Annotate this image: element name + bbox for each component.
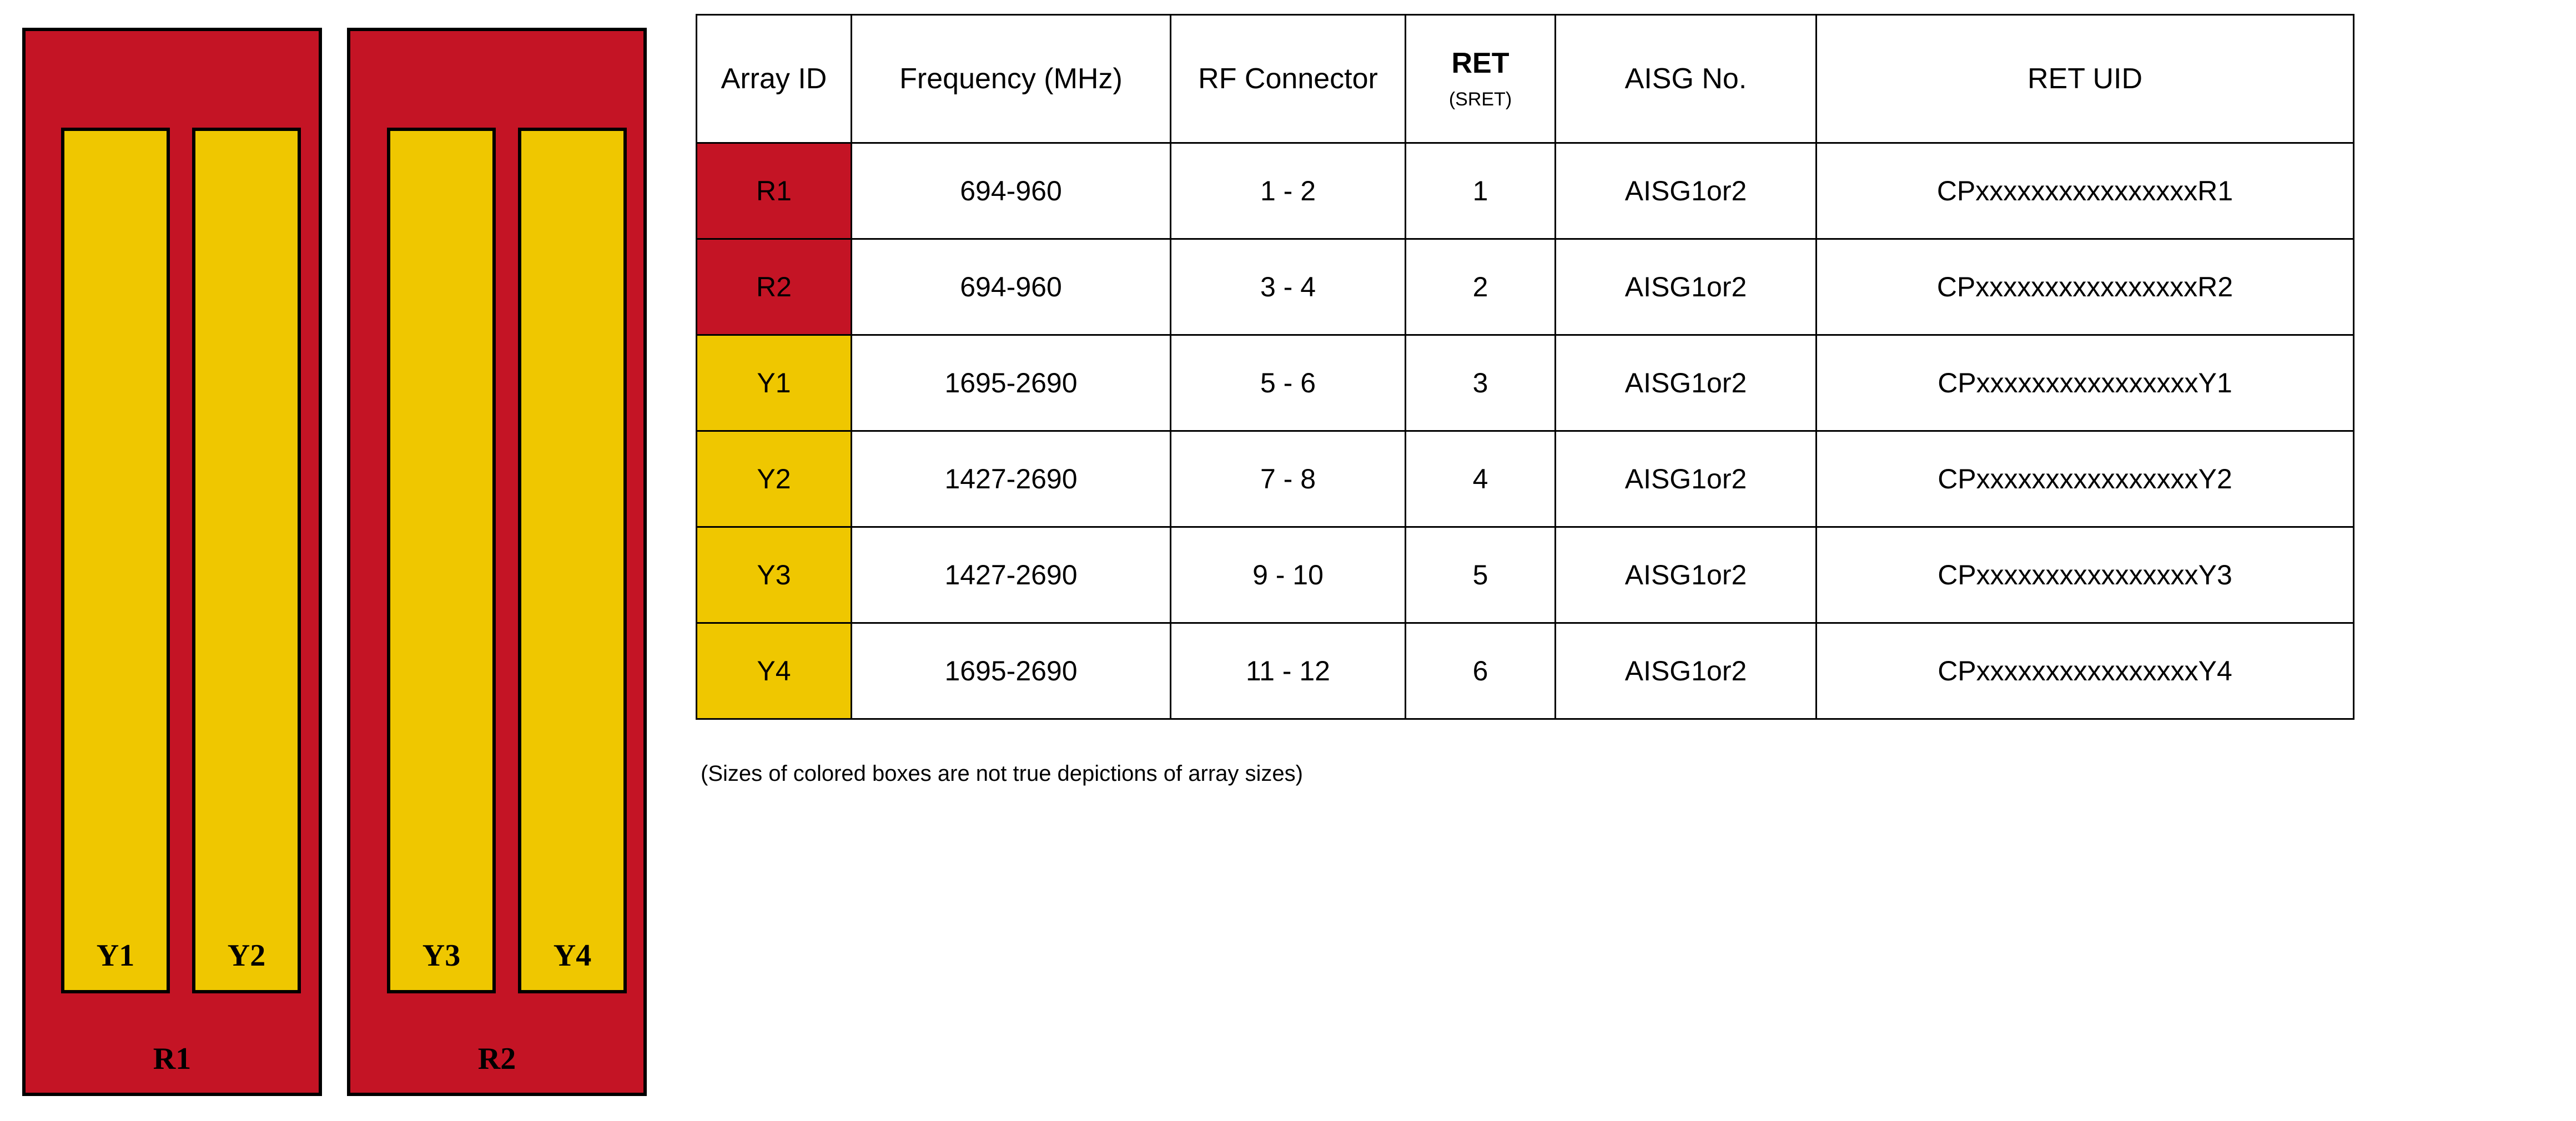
- cell-rf-connector: 9 - 10: [1171, 527, 1406, 623]
- cell-aisg-no: AISG1or2: [1556, 335, 1817, 431]
- antenna-array-diagram: Y1 Y2 Y3 Y4 R1 R2: [0, 0, 694, 1121]
- array-label-y2: Y2: [228, 940, 265, 990]
- array-label-y3: Y3: [422, 940, 460, 990]
- array-spec-table: Array ID Frequency (MHz) RF Connector RE…: [696, 14, 2354, 720]
- table-row: Y2 1427-2690 7 - 8 4 AISG1or2 CPxxxxxxxx…: [697, 431, 2354, 527]
- cell-aisg-no: AISG1or2: [1556, 143, 1817, 239]
- cell-ret: 2: [1406, 239, 1556, 335]
- cell-ret: 3: [1406, 335, 1556, 431]
- array-label-y1: Y1: [97, 940, 134, 990]
- header-aisg-no: AISG No.: [1556, 15, 1817, 143]
- cell-rf-connector: 11 - 12: [1171, 623, 1406, 719]
- cell-ret: 1: [1406, 143, 1556, 239]
- table-row: R1 694-960 1 - 2 1 AISG1or2 CPxxxxxxxxxx…: [697, 143, 2354, 239]
- cell-frequency: 1427-2690: [852, 431, 1171, 527]
- cell-frequency: 694-960: [852, 239, 1171, 335]
- cell-frequency: 1427-2690: [852, 527, 1171, 623]
- cell-ret-uid: CPxxxxxxxxxxxxxxxxY4: [1817, 623, 2354, 719]
- cell-ret: 4: [1406, 431, 1556, 527]
- cell-ret-uid: CPxxxxxxxxxxxxxxxxY2: [1817, 431, 2354, 527]
- cell-frequency: 694-960: [852, 143, 1171, 239]
- array-spec-table-container: Array ID Frequency (MHz) RF Connector RE…: [696, 14, 2353, 720]
- cell-array-id: R2: [697, 239, 852, 335]
- cell-ret: 6: [1406, 623, 1556, 719]
- table-header-row: Array ID Frequency (MHz) RF Connector RE…: [697, 15, 2354, 143]
- table-row: Y3 1427-2690 9 - 10 5 AISG1or2 CPxxxxxxx…: [697, 527, 2354, 623]
- cell-rf-connector: 3 - 4: [1171, 239, 1406, 335]
- header-ret-uid: RET UID: [1817, 15, 2354, 143]
- cell-array-id: Y1: [697, 335, 852, 431]
- cell-array-id: Y3: [697, 527, 852, 623]
- panel-label-r2: R2: [347, 1043, 647, 1074]
- cell-ret-uid: CPxxxxxxxxxxxxxxxxY3: [1817, 527, 2354, 623]
- array-label-y4: Y4: [554, 940, 591, 990]
- header-rf-connector: RF Connector: [1171, 15, 1406, 143]
- cell-aisg-no: AISG1or2: [1556, 527, 1817, 623]
- table-row: R2 694-960 3 - 4 2 AISG1or2 CPxxxxxxxxxx…: [697, 239, 2354, 335]
- cell-array-id: R1: [697, 143, 852, 239]
- header-frequency: Frequency (MHz): [852, 15, 1171, 143]
- header-ret-sub: (SRET): [1449, 90, 1512, 109]
- table-footnote: (Sizes of colored boxes are not true dep…: [701, 761, 1303, 786]
- yellow-array-y3: Y3: [387, 128, 496, 993]
- table-body: R1 694-960 1 - 2 1 AISG1or2 CPxxxxxxxxxx…: [697, 143, 2354, 719]
- table-row: Y1 1695-2690 5 - 6 3 AISG1or2 CPxxxxxxxx…: [697, 335, 2354, 431]
- cell-aisg-no: AISG1or2: [1556, 431, 1817, 527]
- yellow-array-y4: Y4: [518, 128, 627, 993]
- yellow-array-y2: Y2: [192, 128, 301, 993]
- yellow-array-y1: Y1: [61, 128, 170, 993]
- header-ret-main: RET: [1452, 49, 1510, 78]
- cell-rf-connector: 5 - 6: [1171, 335, 1406, 431]
- header-ret: RET (SRET): [1406, 15, 1556, 143]
- cell-ret-uid: CPxxxxxxxxxxxxxxxxR1: [1817, 143, 2354, 239]
- header-array-id: Array ID: [697, 15, 852, 143]
- cell-frequency: 1695-2690: [852, 335, 1171, 431]
- cell-rf-connector: 1 - 2: [1171, 143, 1406, 239]
- panel-label-r1: R1: [22, 1043, 322, 1074]
- cell-array-id: Y4: [697, 623, 852, 719]
- cell-frequency: 1695-2690: [852, 623, 1171, 719]
- cell-ret: 5: [1406, 527, 1556, 623]
- cell-aisg-no: AISG1or2: [1556, 623, 1817, 719]
- table-row: Y4 1695-2690 11 - 12 6 AISG1or2 CPxxxxxx…: [697, 623, 2354, 719]
- cell-rf-connector: 7 - 8: [1171, 431, 1406, 527]
- cell-array-id: Y2: [697, 431, 852, 527]
- cell-ret-uid: CPxxxxxxxxxxxxxxxxR2: [1817, 239, 2354, 335]
- cell-aisg-no: AISG1or2: [1556, 239, 1817, 335]
- cell-ret-uid: CPxxxxxxxxxxxxxxxxY1: [1817, 335, 2354, 431]
